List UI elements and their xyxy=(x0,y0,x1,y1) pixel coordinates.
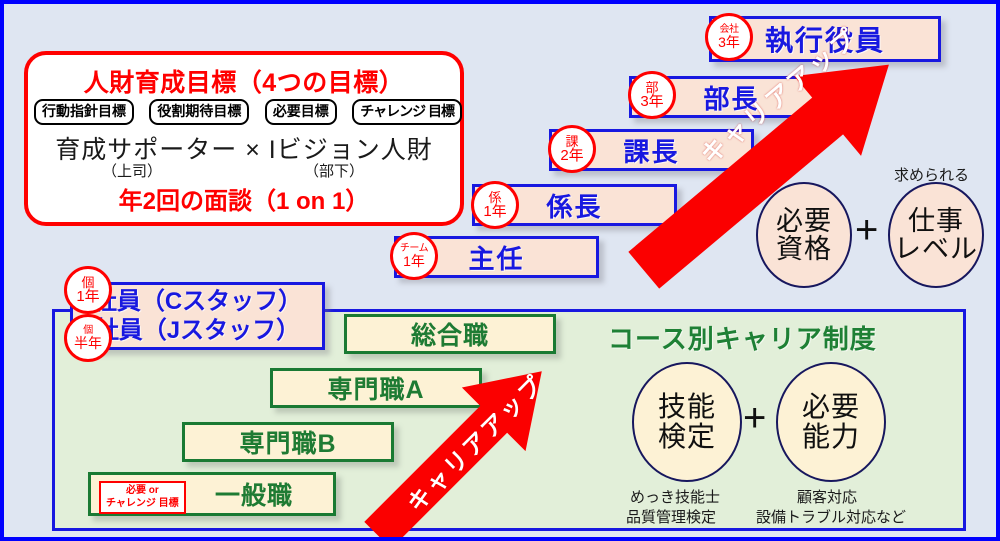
circle-line-1: 技能 xyxy=(658,392,716,422)
circle-line-2: 能力 xyxy=(802,422,860,452)
skill-test-caption-line-2: 品質管理検定 xyxy=(626,506,716,527)
course-system-title: コース別キャリア制度 xyxy=(608,319,877,356)
badge-top-label: 係 xyxy=(488,191,501,204)
circle-required-ability: 必要 能力 xyxy=(776,362,886,482)
goals-panel-title: 人財育成目標（4つの目標） xyxy=(28,63,460,99)
badge-shunin: チーム 1年 xyxy=(390,232,438,280)
badge-top-label: 個 xyxy=(81,276,94,289)
goal-chip-challenge[interactable]: チャレンジ 目標 xyxy=(352,99,462,125)
badge-bottom-label: 1年 xyxy=(483,204,506,219)
circle-line-2: 検定 xyxy=(658,422,716,452)
circle-line-1: 仕事 xyxy=(908,207,964,235)
badge-top-label: 部 xyxy=(645,81,658,94)
badge-bottom-label: 半年 xyxy=(74,336,102,350)
goal-chip-hitsuyo[interactable]: 必要目標 xyxy=(265,99,337,125)
course-box-label: 総合職 xyxy=(411,316,489,352)
plus-sign-top: + xyxy=(855,208,878,253)
course-box-sogoshoku[interactable]: 総合職 xyxy=(344,314,556,354)
supporter-sub-right: （部下） xyxy=(304,160,364,181)
circle-skill-test: 技能 検定 xyxy=(632,362,742,482)
course-box-label: 専門職B xyxy=(239,424,336,460)
required-ability-caption-line-2: 設備トラブル対応など xyxy=(756,506,906,527)
badge-bottom-label: 2年 xyxy=(560,148,583,163)
course-box-senmonshoku-a[interactable]: 専門職A xyxy=(270,368,482,408)
badge-kacho: 課 2年 xyxy=(548,125,596,173)
diagram-canvas: 主任 係長 課長 部長 執行役員 チーム 1年 係 1年 課 2年 部 3年 会… xyxy=(0,0,1000,541)
circle-line-2: 資格 xyxy=(776,235,832,263)
badge-bucho: 部 3年 xyxy=(628,71,676,119)
badge-top-label: 課 xyxy=(565,135,578,148)
badge-shikkoyakuin: 会社 3年 xyxy=(705,13,753,61)
employee-line-2: 社員（Jスタッフ） xyxy=(95,316,300,345)
meeting-frequency-line: 年2回の面談（1 on 1） xyxy=(28,181,460,216)
course-box-label: 専門職A xyxy=(327,370,424,406)
badge-bottom-label: 3年 xyxy=(640,94,663,109)
supporter-sub-left: （上司） xyxy=(102,160,162,181)
ippanshoku-goal-badge-line-2: チャレンジ 目標 xyxy=(106,498,179,511)
required-ability-caption-line-1: 顧客対応 xyxy=(797,486,857,507)
skill-test-caption-line-1: めっき技能士 xyxy=(630,486,720,507)
circle-line-1: 必要 xyxy=(802,392,860,422)
hr-development-goals-panel: 人財育成目標（4つの目標） 行動指針目標 役割期待目標 必要目標 チャレンジ 目… xyxy=(24,51,464,226)
supporter-line: 育成サポーター × Iビジョン人財 xyxy=(28,130,460,166)
badge-bottom-label: 1年 xyxy=(403,254,425,268)
plus-sign-bottom: + xyxy=(743,396,766,441)
course-box-label: 一般職 xyxy=(215,476,293,512)
circle-required-qualification: 必要 資格 xyxy=(756,182,852,288)
circle-job-level: 仕事 レベル xyxy=(888,182,984,288)
badge-employee-c: 個 1年 xyxy=(64,266,112,314)
goal-chip-list: 行動指針目標 役割期待目標 必要目標 チャレンジ 目標 xyxy=(34,99,462,125)
badge-bottom-label: 3年 xyxy=(718,35,740,49)
circle-line-1: 必要 xyxy=(776,207,832,235)
ippanshoku-goal-badge: 必要 or チャレンジ 目標 xyxy=(99,481,186,514)
badge-employee-j: 個 半年 xyxy=(64,314,112,362)
employee-line-1: 社員（Cスタッフ） xyxy=(93,287,302,316)
course-box-ippanshoku[interactable]: 必要 or チャレンジ 目標 一般職 xyxy=(88,472,336,516)
course-box-senmonshoku-b[interactable]: 専門職B xyxy=(182,422,394,462)
circle-line-2: レベル xyxy=(894,235,978,263)
goal-chip-yakuwarikitai[interactable]: 役割期待目標 xyxy=(149,99,249,125)
badge-kakaricho: 係 1年 xyxy=(471,181,519,229)
ippanshoku-goal-badge-line-1: 必要 or xyxy=(106,485,179,498)
goal-chip-kodoshishin[interactable]: 行動指針目標 xyxy=(34,99,134,125)
badge-bottom-label: 1年 xyxy=(76,289,99,304)
